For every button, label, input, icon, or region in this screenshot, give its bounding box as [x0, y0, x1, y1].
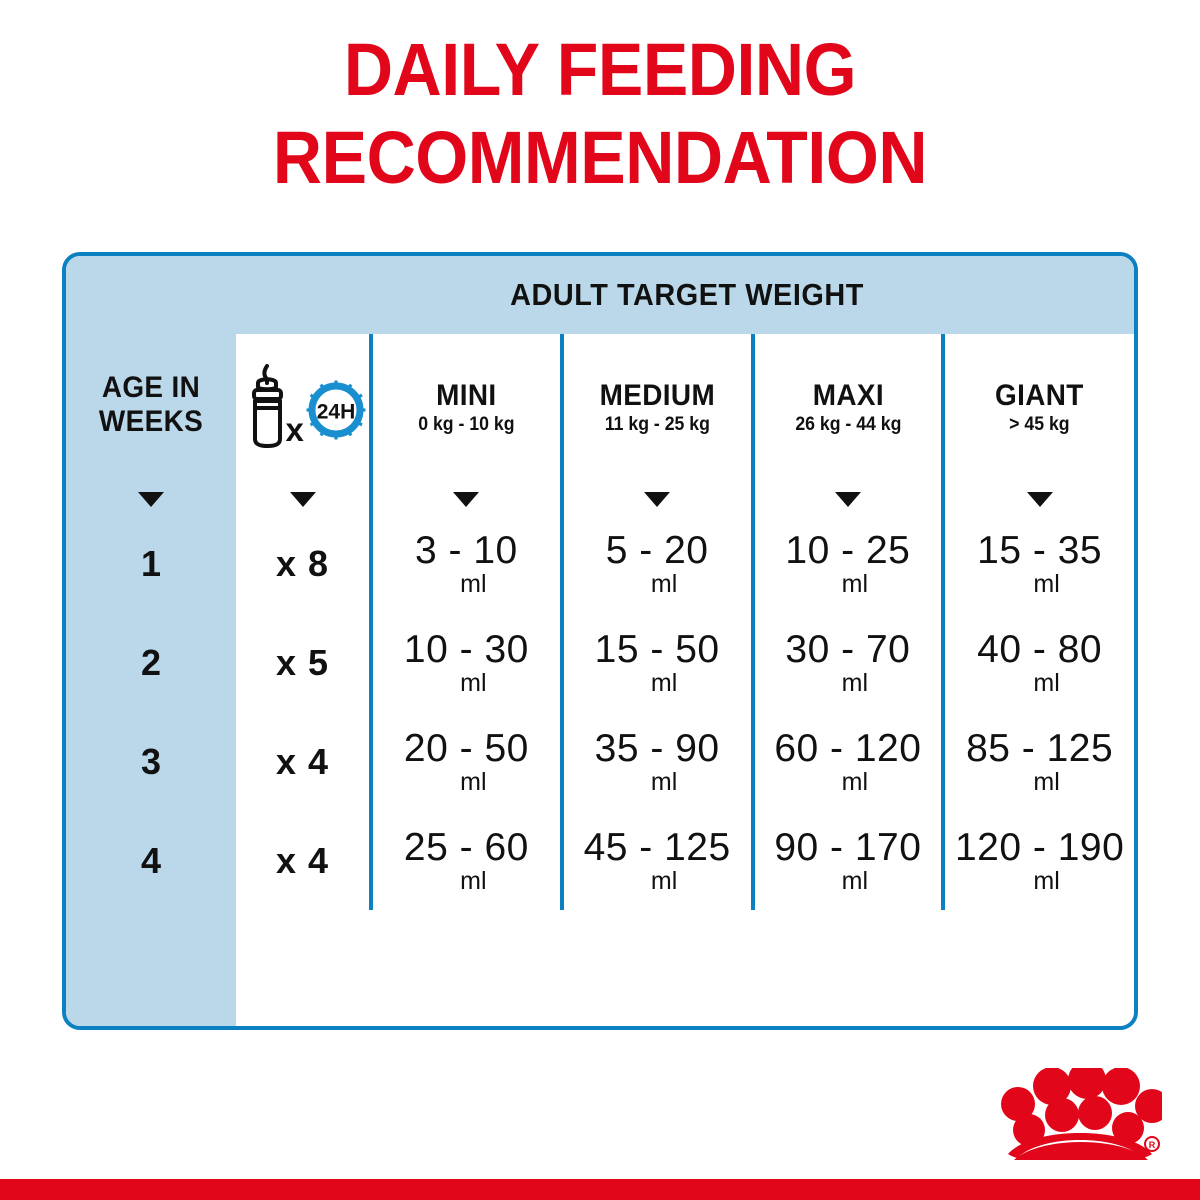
age-header-line-1: AGE IN	[72, 371, 230, 405]
size-name-giant: GIANT	[952, 380, 1128, 412]
registered-mark-letter: R	[1149, 1140, 1156, 1150]
frequency-cell: x 5	[236, 613, 371, 712]
feeding-recommendation-page: DAILY FEEDING RECOMMENDATION ADULT TARGE…	[0, 0, 1200, 1200]
page-title: DAILY FEEDING RECOMMENDATION	[48, 26, 1152, 202]
amount-cell-giant: 120 - 190ml	[943, 811, 1134, 910]
feeding-table-panel: ADULT TARGET WEIGHT AGE IN WEEKS	[62, 252, 1138, 1030]
size-name-maxi: MAXI	[761, 380, 935, 412]
caret-down-icon-giant	[1027, 492, 1053, 507]
table-row: 2 x 5 10 - 30ml 15 - 50ml 30 - 70ml 40 -…	[66, 613, 1134, 712]
amount-cell-mini: 10 - 30ml	[371, 613, 562, 712]
royal-canin-logo: R	[1000, 1068, 1162, 1160]
week-value: 1	[141, 543, 161, 584]
clock-24h-icon: 24H	[305, 379, 367, 441]
week-value: 2	[141, 642, 161, 683]
amount-unit: ml	[578, 571, 751, 597]
amount-unit: ml	[769, 571, 942, 597]
frequency-value: x 5	[276, 642, 329, 683]
amount-cell-mini: 3 - 10ml	[371, 514, 562, 613]
size-header-giant: GIANT > 45 kg	[943, 334, 1134, 484]
age-in-weeks-header: AGE IN WEEKS	[66, 334, 236, 484]
table-row: 3 x 4 20 - 50ml 35 - 90ml 60 - 120ml 85 …	[66, 712, 1134, 811]
amount-unit: ml	[578, 868, 751, 894]
amount-value: 60 - 120	[755, 729, 942, 769]
frequency-value: x 8	[276, 543, 329, 584]
amount-unit: ml	[959, 670, 1134, 696]
size-header-mini: MINI 0 kg - 10 kg	[371, 334, 562, 484]
amount-cell-medium: 45 - 125ml	[562, 811, 753, 910]
feeding-table: AGE IN WEEKS	[66, 334, 1134, 910]
amount-value: 85 - 125	[945, 729, 1134, 769]
amount-unit: ml	[769, 670, 942, 696]
amount-unit: ml	[578, 769, 751, 795]
amount-unit: ml	[387, 571, 560, 597]
caret-cell-age	[66, 484, 236, 514]
crown-logo-icon: R	[1000, 1068, 1162, 1160]
amount-unit: ml	[959, 769, 1134, 795]
amount-cell-medium: 15 - 50ml	[562, 613, 753, 712]
amount-unit: ml	[387, 769, 560, 795]
amount-unit: ml	[578, 670, 751, 696]
amount-unit: ml	[959, 571, 1134, 597]
week-value: 4	[141, 840, 161, 881]
size-name-mini: MINI	[380, 380, 554, 412]
amount-value: 10 - 25	[755, 531, 942, 571]
amount-value: 3 - 10	[373, 531, 560, 571]
frequency-cell: x 4	[236, 811, 371, 910]
caret-cell-frequency	[236, 484, 371, 514]
amount-value: 30 - 70	[755, 630, 942, 670]
size-header-medium: MEDIUM 11 kg - 25 kg	[562, 334, 753, 484]
amount-value: 25 - 60	[373, 828, 560, 868]
caret-cell-maxi	[753, 484, 944, 514]
multiply-icon: x	[286, 413, 304, 446]
amount-value: 10 - 30	[373, 630, 560, 670]
amount-unit: ml	[387, 670, 560, 696]
table-header-row: AGE IN WEEKS	[66, 334, 1134, 484]
week-cell: 2	[66, 613, 236, 712]
amount-cell-giant: 85 - 125ml	[943, 712, 1134, 811]
week-cell: 4	[66, 811, 236, 910]
week-cell: 1	[66, 514, 236, 613]
caret-down-icon-frequency	[290, 492, 316, 507]
caret-cell-medium	[562, 484, 753, 514]
amount-value: 5 - 20	[564, 531, 751, 571]
amount-cell-maxi: 60 - 120ml	[753, 712, 944, 811]
table-body-area: AGE IN WEEKS	[66, 334, 1134, 1026]
size-header-maxi: MAXI 26 kg - 44 kg	[753, 334, 944, 484]
amount-cell-mini: 20 - 50ml	[371, 712, 562, 811]
amount-value: 15 - 50	[564, 630, 751, 670]
frequency-cell: x 8	[236, 514, 371, 613]
amount-value: 120 - 190	[945, 828, 1134, 868]
amount-value: 40 - 80	[945, 630, 1134, 670]
amount-unit: ml	[959, 868, 1134, 894]
amount-value: 90 - 170	[755, 828, 942, 868]
amount-cell-maxi: 90 - 170ml	[753, 811, 944, 910]
table-row: 4 x 4 25 - 60ml 45 - 125ml 90 - 170ml 12…	[66, 811, 1134, 910]
amount-value: 45 - 125	[564, 828, 751, 868]
adult-target-weight-banner: ADULT TARGET WEIGHT	[66, 256, 1134, 334]
frequency-value: x 4	[276, 840, 329, 881]
frequency-value: x 4	[276, 741, 329, 782]
amount-cell-maxi: 30 - 70ml	[753, 613, 944, 712]
caret-down-icon-maxi	[835, 492, 861, 507]
column-caret-row	[66, 484, 1134, 514]
adult-target-weight-title: ADULT TARGET WEIGHT	[268, 277, 1107, 313]
size-range-medium: 11 kg - 25 kg	[570, 412, 744, 438]
size-range-giant: > 45 kg	[952, 412, 1128, 438]
amount-cell-mini: 25 - 60ml	[371, 811, 562, 910]
size-range-maxi: 26 kg - 44 kg	[761, 412, 935, 438]
bottom-red-bar	[0, 1179, 1200, 1200]
size-range-mini: 0 kg - 10 kg	[380, 412, 554, 438]
frequency-cell: x 4	[236, 712, 371, 811]
week-value: 3	[141, 741, 161, 782]
amount-value: 20 - 50	[373, 729, 560, 769]
caret-cell-giant	[943, 484, 1134, 514]
caret-cell-mini	[371, 484, 562, 514]
amount-value: 15 - 35	[945, 531, 1134, 571]
feeding-frequency-header: x	[236, 334, 371, 484]
amount-value: 35 - 90	[564, 729, 751, 769]
caret-down-icon-age	[138, 492, 164, 507]
page-title-line-1: DAILY FEEDING	[48, 26, 1152, 114]
amount-cell-maxi: 10 - 25ml	[753, 514, 944, 613]
caret-down-icon-medium	[644, 492, 670, 507]
week-cell: 3	[66, 712, 236, 811]
age-header-line-2: WEEKS	[72, 405, 230, 439]
amount-unit: ml	[769, 868, 942, 894]
size-name-medium: MEDIUM	[570, 380, 744, 412]
amount-unit: ml	[387, 868, 560, 894]
clock-24h-label: 24H	[316, 401, 355, 424]
amount-cell-giant: 40 - 80ml	[943, 613, 1134, 712]
amount-unit: ml	[769, 769, 942, 795]
caret-down-icon-mini	[453, 492, 479, 507]
table-row: 1 x 8 3 - 10ml 5 - 20ml 10 - 25ml 15 - 3…	[66, 514, 1134, 613]
amount-cell-medium: 5 - 20ml	[562, 514, 753, 613]
amount-cell-medium: 35 - 90ml	[562, 712, 753, 811]
amount-cell-giant: 15 - 35ml	[943, 514, 1134, 613]
page-title-line-2: RECOMMENDATION	[48, 114, 1152, 202]
